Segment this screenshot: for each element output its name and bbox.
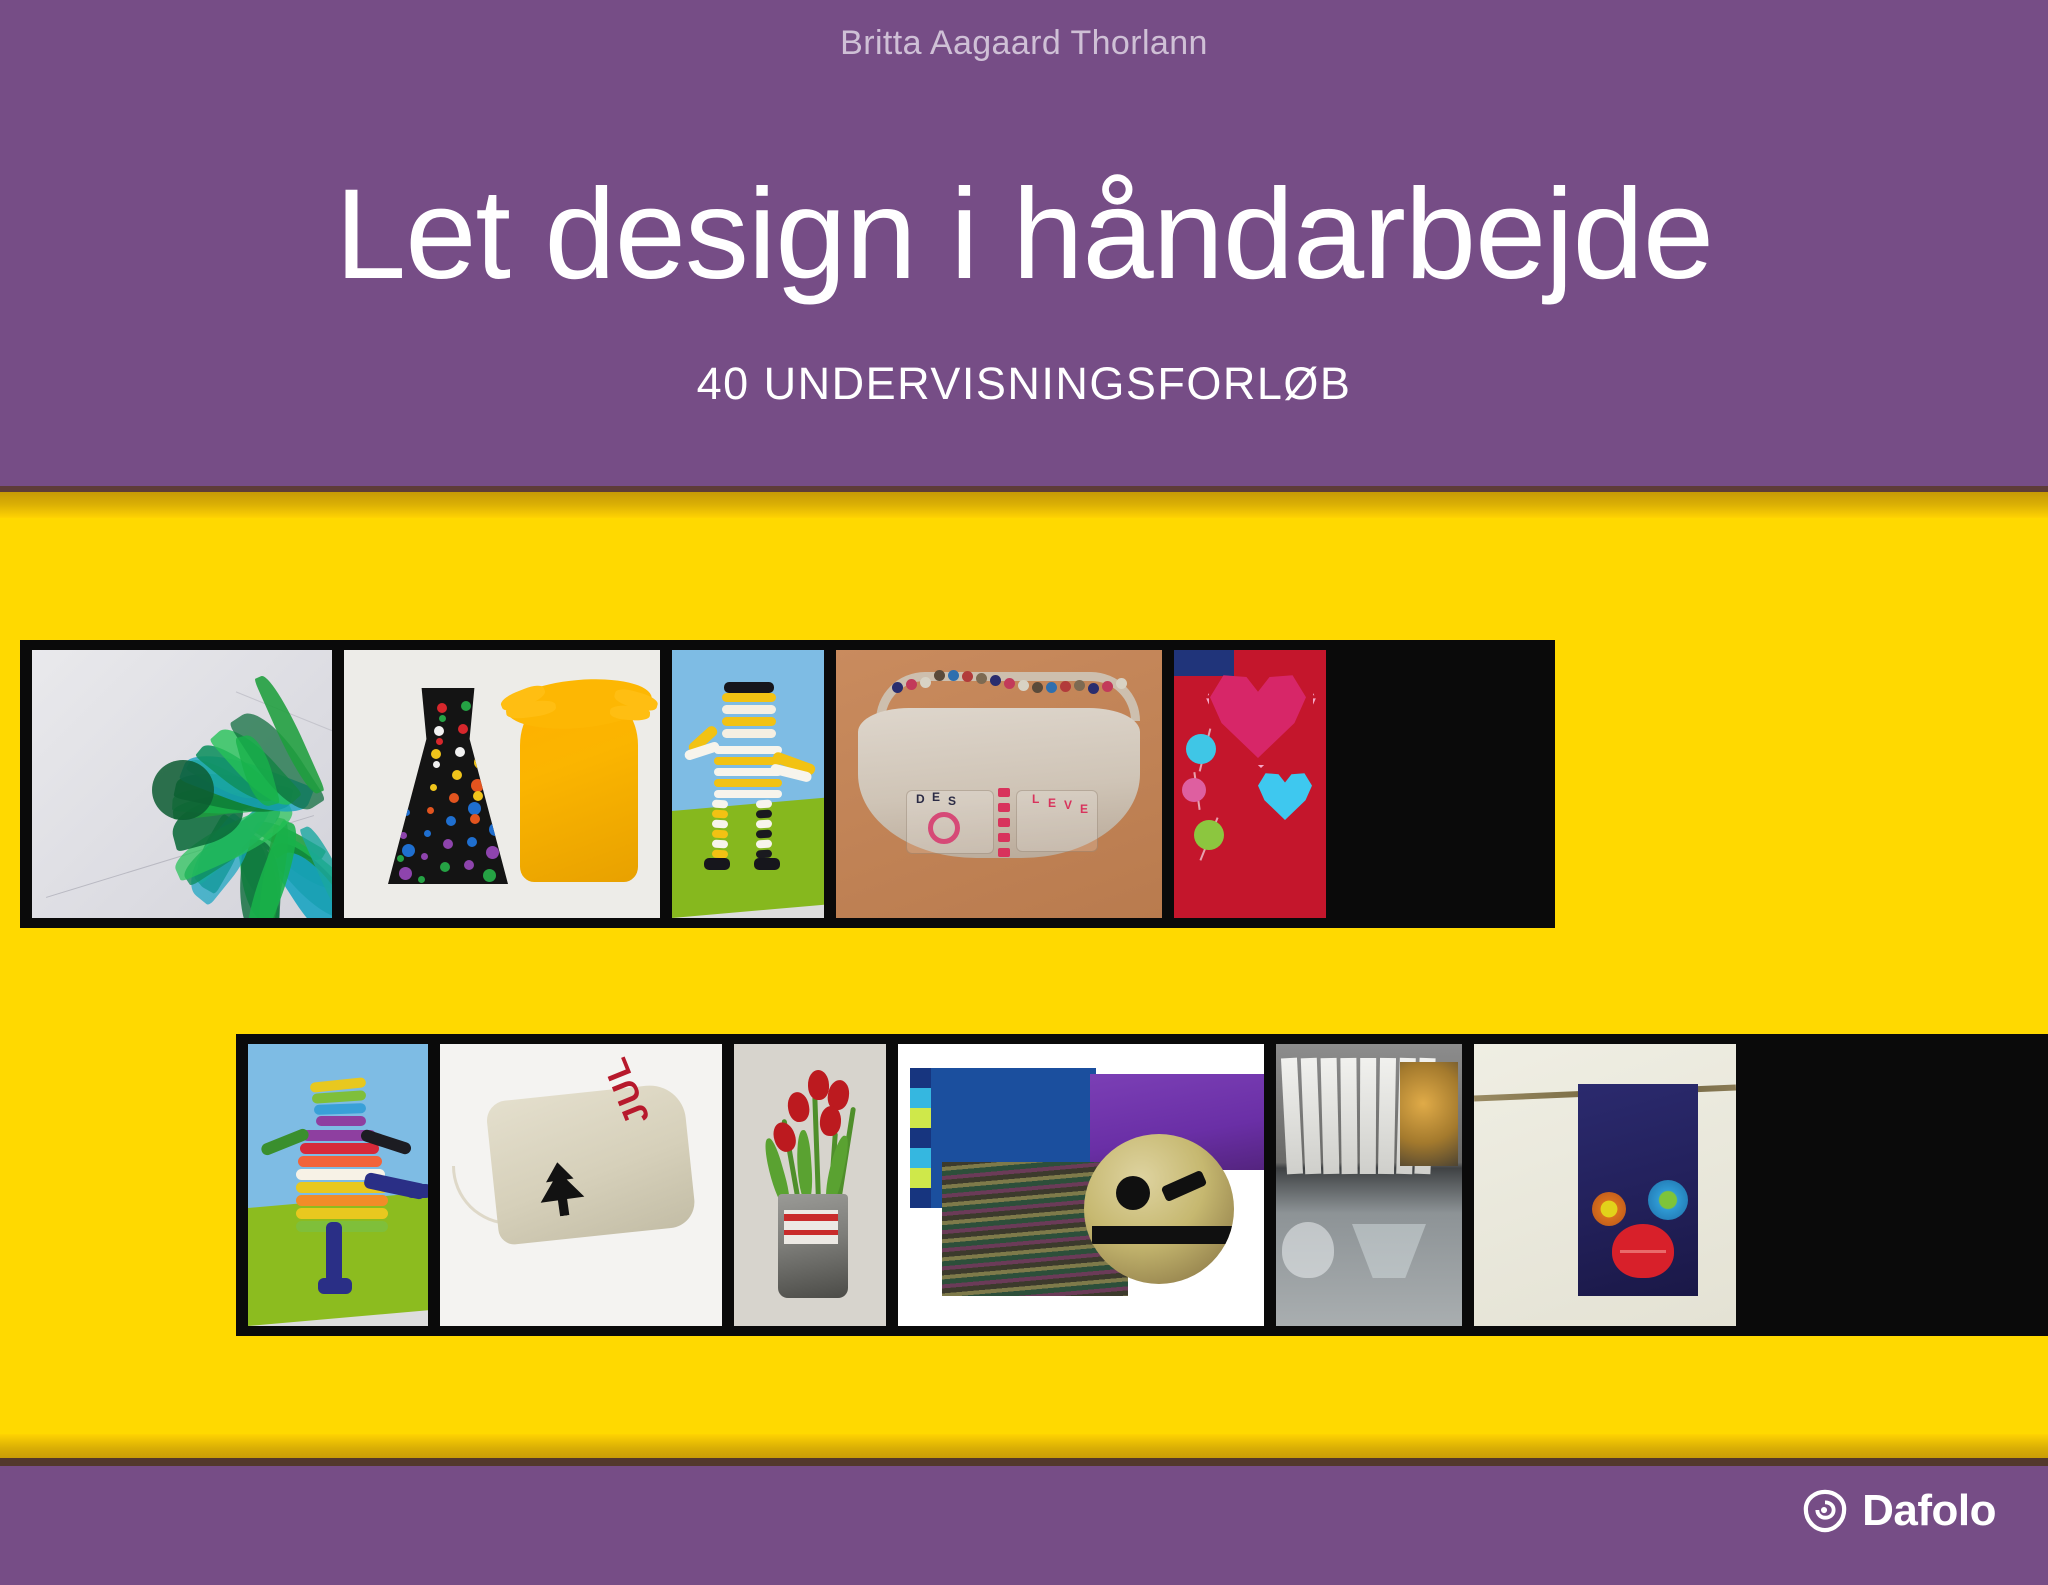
smiley-eye-right — [1161, 1170, 1208, 1203]
weave-cell — [910, 1088, 931, 1108]
gold-strip-top — [0, 492, 2048, 518]
handbag-pocket-right — [1016, 790, 1098, 852]
bag-dot — [402, 844, 415, 857]
doll-leg-left — [712, 829, 729, 838]
bag-dot — [399, 867, 412, 880]
bag-dot — [495, 777, 508, 790]
doll-body-stripe — [298, 1156, 382, 1167]
bag-dot — [455, 747, 465, 757]
handbag-letter: V — [1064, 798, 1072, 812]
doll-shoe — [318, 1278, 352, 1294]
handbag-letter: E — [932, 790, 940, 804]
glass-jar — [1282, 1222, 1334, 1278]
author-name: Britta Aagaard Thorlann — [0, 24, 2048, 63]
smiley-eye-left — [1116, 1176, 1150, 1210]
publisher-name: Dafolo — [1862, 1489, 1996, 1533]
bottom-purple-band — [0, 1464, 2048, 1585]
strap-bead — [1018, 680, 1029, 691]
bag-dot — [449, 793, 459, 803]
weave-cell — [910, 1188, 931, 1208]
doll-head-stripe — [722, 729, 776, 738]
strap-bead — [1032, 682, 1043, 693]
bag-dot — [394, 696, 401, 703]
bag-dot — [434, 726, 444, 736]
weave-cell — [910, 1108, 931, 1128]
doll-head-stripe — [722, 693, 776, 702]
bag-dot — [501, 731, 514, 744]
bag-dot — [440, 862, 450, 872]
interior-slat — [1321, 1058, 1340, 1174]
bag-dot — [439, 715, 446, 722]
strap-bead — [1046, 682, 1057, 693]
bag-dot — [474, 756, 487, 769]
bag-dot — [498, 754, 511, 767]
pocket-divider-stripe — [998, 833, 1010, 842]
bag-dot — [427, 807, 434, 814]
photo-woven-pouches — [898, 1044, 1264, 1326]
photo-jul-bag: JUL — [440, 1044, 722, 1326]
doll-leg-right — [756, 809, 773, 818]
bag-dot — [412, 740, 419, 747]
yellow-bag-graphic — [520, 692, 638, 882]
strap-bead — [1004, 678, 1015, 689]
doll-body-stripe — [296, 1195, 388, 1206]
smiley-mouth — [1092, 1226, 1232, 1244]
bag-dot — [452, 770, 462, 780]
doll-leg-right — [756, 799, 773, 808]
bottom-photo-strip: JUL — [236, 1034, 2048, 1336]
doll-body-stripe — [300, 1143, 379, 1154]
weave-cell — [910, 1128, 931, 1148]
strap-bead — [1074, 680, 1085, 691]
strap-bead — [906, 679, 917, 690]
book-cover: Britta Aagaard Thorlann Let design i hån… — [0, 0, 2048, 1585]
strap-bead — [962, 671, 973, 682]
doll-body-stripe — [296, 1221, 388, 1232]
pocket-divider-stripe — [998, 818, 1010, 827]
photo-decorated-handbag: DESLEVE — [836, 650, 1162, 918]
bead-turquoise — [1186, 734, 1216, 764]
bag-dot — [446, 816, 456, 826]
bag-dot — [396, 708, 409, 721]
photo-knitted-doll-yellow — [672, 650, 824, 918]
bag-dot — [464, 860, 474, 870]
bag-dot — [437, 703, 447, 713]
doll-leg-right — [756, 829, 773, 838]
weave-cell — [910, 1168, 931, 1188]
photo-felt-heart — [1174, 650, 1326, 918]
strap-bead — [1116, 678, 1127, 689]
label-stripe — [784, 1230, 838, 1235]
bag-dot — [406, 786, 413, 793]
bag-dot — [458, 724, 468, 734]
handbag-letter: E — [1048, 796, 1056, 810]
turquoise-heart — [1258, 768, 1312, 820]
gold-strip-bottom — [0, 1434, 2048, 1460]
dafolo-emblem-icon — [1802, 1488, 1848, 1534]
vase-label — [784, 1210, 838, 1244]
bag-dot — [480, 710, 493, 723]
photo-knitted-doll-colorful — [248, 1044, 428, 1326]
photo-felt-flower — [32, 650, 332, 918]
upcycled-vase — [778, 1194, 848, 1298]
pocket-divider-stripe — [998, 803, 1010, 812]
label-stripe — [784, 1214, 838, 1221]
photo-navy-apple-bag — [1474, 1044, 1736, 1326]
doll-leg-left — [712, 839, 729, 848]
bag-dot — [430, 784, 437, 791]
pocket-divider-stripe — [998, 848, 1010, 857]
bag-dot — [467, 837, 477, 847]
bag-dot — [397, 855, 404, 862]
strap-bead — [948, 670, 959, 681]
weave-cell — [910, 1068, 931, 1088]
round-smiley-pouch — [1084, 1134, 1234, 1284]
top-photo-strip: DESLEVE — [20, 640, 1555, 928]
tulip-flower — [786, 1090, 812, 1123]
grass-background — [672, 798, 824, 918]
strap-bead — [976, 673, 987, 684]
publisher-logo: Dafolo — [1802, 1488, 1996, 1534]
bag-dot — [433, 761, 440, 768]
handbag-letter: L — [1032, 792, 1039, 806]
interior-slat — [1281, 1058, 1303, 1175]
handbag-letter: S — [948, 794, 956, 808]
bag-dot — [415, 717, 422, 724]
warm-light-area — [1400, 1062, 1458, 1166]
bag-dot — [421, 853, 428, 860]
book-subtitle: 40 UNDERVISNINGSFORLØB — [0, 358, 2048, 410]
tulip-stem — [812, 1096, 821, 1202]
doll-leg-right — [756, 839, 773, 848]
doll-head-stripe — [316, 1116, 366, 1126]
photo-drawstring-bags — [344, 650, 660, 918]
doll-leg-left — [712, 819, 729, 828]
weave-cell — [910, 1148, 931, 1168]
tulip-flower — [819, 1105, 842, 1136]
doll-head-stripe — [722, 705, 776, 714]
apple-applique — [1612, 1224, 1674, 1278]
tulip-flower — [807, 1070, 829, 1101]
handbag-letter: D — [916, 792, 925, 806]
strap-bead — [1088, 683, 1099, 694]
doll-head-stripe — [722, 717, 776, 726]
button-blue — [1648, 1180, 1688, 1220]
doll-shoe-right — [754, 858, 780, 870]
strap-bead — [1060, 681, 1071, 692]
bag-dot — [436, 738, 443, 745]
bag-dot — [477, 733, 490, 746]
bag-dot — [492, 800, 505, 813]
bag-dot — [400, 832, 407, 839]
apple-stitch — [1620, 1250, 1666, 1253]
doll-leg-left — [712, 809, 729, 818]
flower-center — [152, 760, 214, 820]
polka-dot-bag-graphic — [388, 688, 508, 884]
pink-circle-applique — [928, 812, 960, 844]
bag-dot — [483, 869, 496, 882]
doll-body-stripe — [296, 1208, 388, 1219]
bead-pink — [1182, 778, 1206, 802]
heart-embroidery-outline — [1206, 662, 1316, 768]
bag-dot — [470, 814, 480, 824]
navy-corner-patch — [1174, 650, 1234, 676]
jul-bag-body — [485, 1082, 697, 1246]
bag-dot — [431, 749, 441, 759]
strap-bead — [990, 675, 1001, 686]
pocket-divider-stripe — [998, 788, 1010, 797]
interior-slat — [1340, 1058, 1357, 1174]
doll-shoe-left — [704, 858, 730, 870]
bag-dot — [486, 846, 499, 859]
doll-body-stripe — [714, 746, 782, 754]
doll-body-stripe — [714, 790, 782, 798]
bottom-band-edge — [0, 1458, 2048, 1466]
bag-dot — [473, 791, 483, 801]
doll-leg-right — [756, 819, 773, 828]
strap-bead — [1102, 681, 1113, 692]
strap-bead — [920, 677, 931, 688]
doll-head-stripe — [314, 1103, 366, 1115]
doll-foot-right — [406, 1184, 428, 1198]
interior-slat — [1360, 1058, 1376, 1174]
glass-shape — [1352, 1224, 1426, 1278]
strap-bead — [934, 670, 945, 681]
bag-dot — [418, 876, 425, 883]
interior-slat — [1378, 1058, 1396, 1174]
photo-interior-slats — [1276, 1044, 1462, 1326]
navy-bag-body — [1578, 1084, 1698, 1296]
photo-tulips-vase — [734, 1044, 886, 1326]
button-orange — [1592, 1192, 1626, 1226]
bag-dot — [424, 830, 431, 837]
bag-dot — [461, 701, 471, 711]
doll-leg-left — [712, 799, 729, 808]
bag-dot — [409, 763, 416, 770]
strap-bead — [892, 682, 903, 693]
book-title: Let design i håndarbejde — [0, 168, 2048, 302]
bag-dot — [489, 823, 502, 836]
interior-slat — [1301, 1058, 1321, 1175]
doll-hair — [724, 682, 774, 693]
bag-dot — [403, 809, 410, 816]
handbag-letter: E — [1080, 802, 1088, 816]
bead-green — [1194, 820, 1224, 850]
bag-dot — [443, 839, 453, 849]
doll-body-stripe — [714, 779, 782, 787]
doll-leg-left — [326, 1222, 342, 1284]
